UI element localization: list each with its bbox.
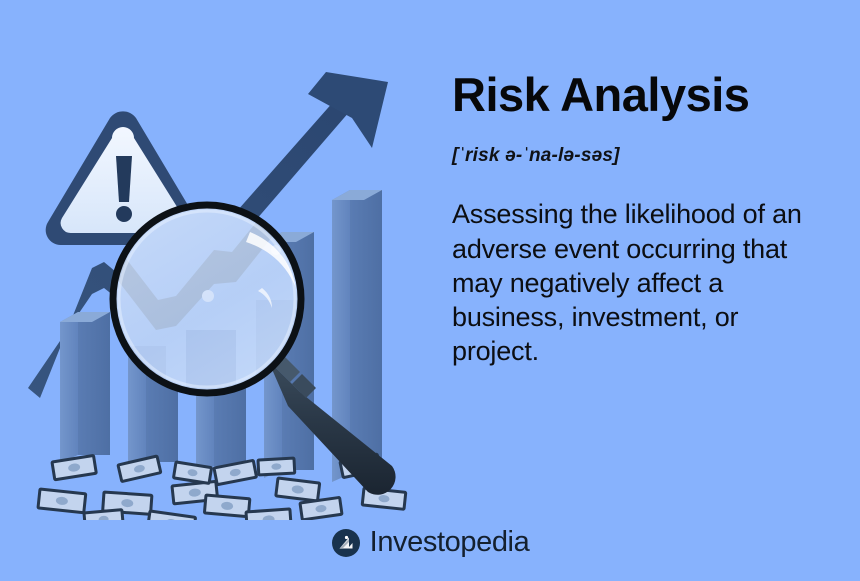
brand-footer: Investopedia — [0, 526, 860, 559]
banknote-icon — [38, 489, 86, 513]
risk-analysis-card: Risk Analysis [ˈrisk ə-ˈna-lə-səs] Asses… — [0, 0, 860, 581]
investopedia-logo-icon — [331, 528, 361, 558]
banknote-icon — [204, 495, 249, 517]
page-title: Risk Analysis — [452, 70, 824, 119]
definition-text: Assessing the likelihood of an adverse e… — [452, 167, 824, 368]
banknote-icon — [118, 456, 161, 482]
banknote-icon — [52, 455, 96, 479]
banknote-icon — [147, 511, 195, 520]
banknote-icon — [173, 462, 211, 483]
banknote-icon — [84, 510, 123, 520]
bar-1 — [60, 312, 110, 463]
risk-analysis-illustration — [0, 0, 440, 520]
phonetic-transcription: [ˈrisk ə-ˈna-lə-səs] — [452, 119, 824, 167]
banknote-icon — [276, 478, 320, 501]
banknote-icon — [246, 509, 291, 520]
banknote-icon — [258, 458, 295, 475]
brand-name: Investopedia — [370, 526, 530, 559]
definition-block: Risk Analysis [ˈrisk ə-ˈna-lə-səs] Asses… — [452, 70, 824, 369]
banknote-icon — [300, 497, 342, 519]
